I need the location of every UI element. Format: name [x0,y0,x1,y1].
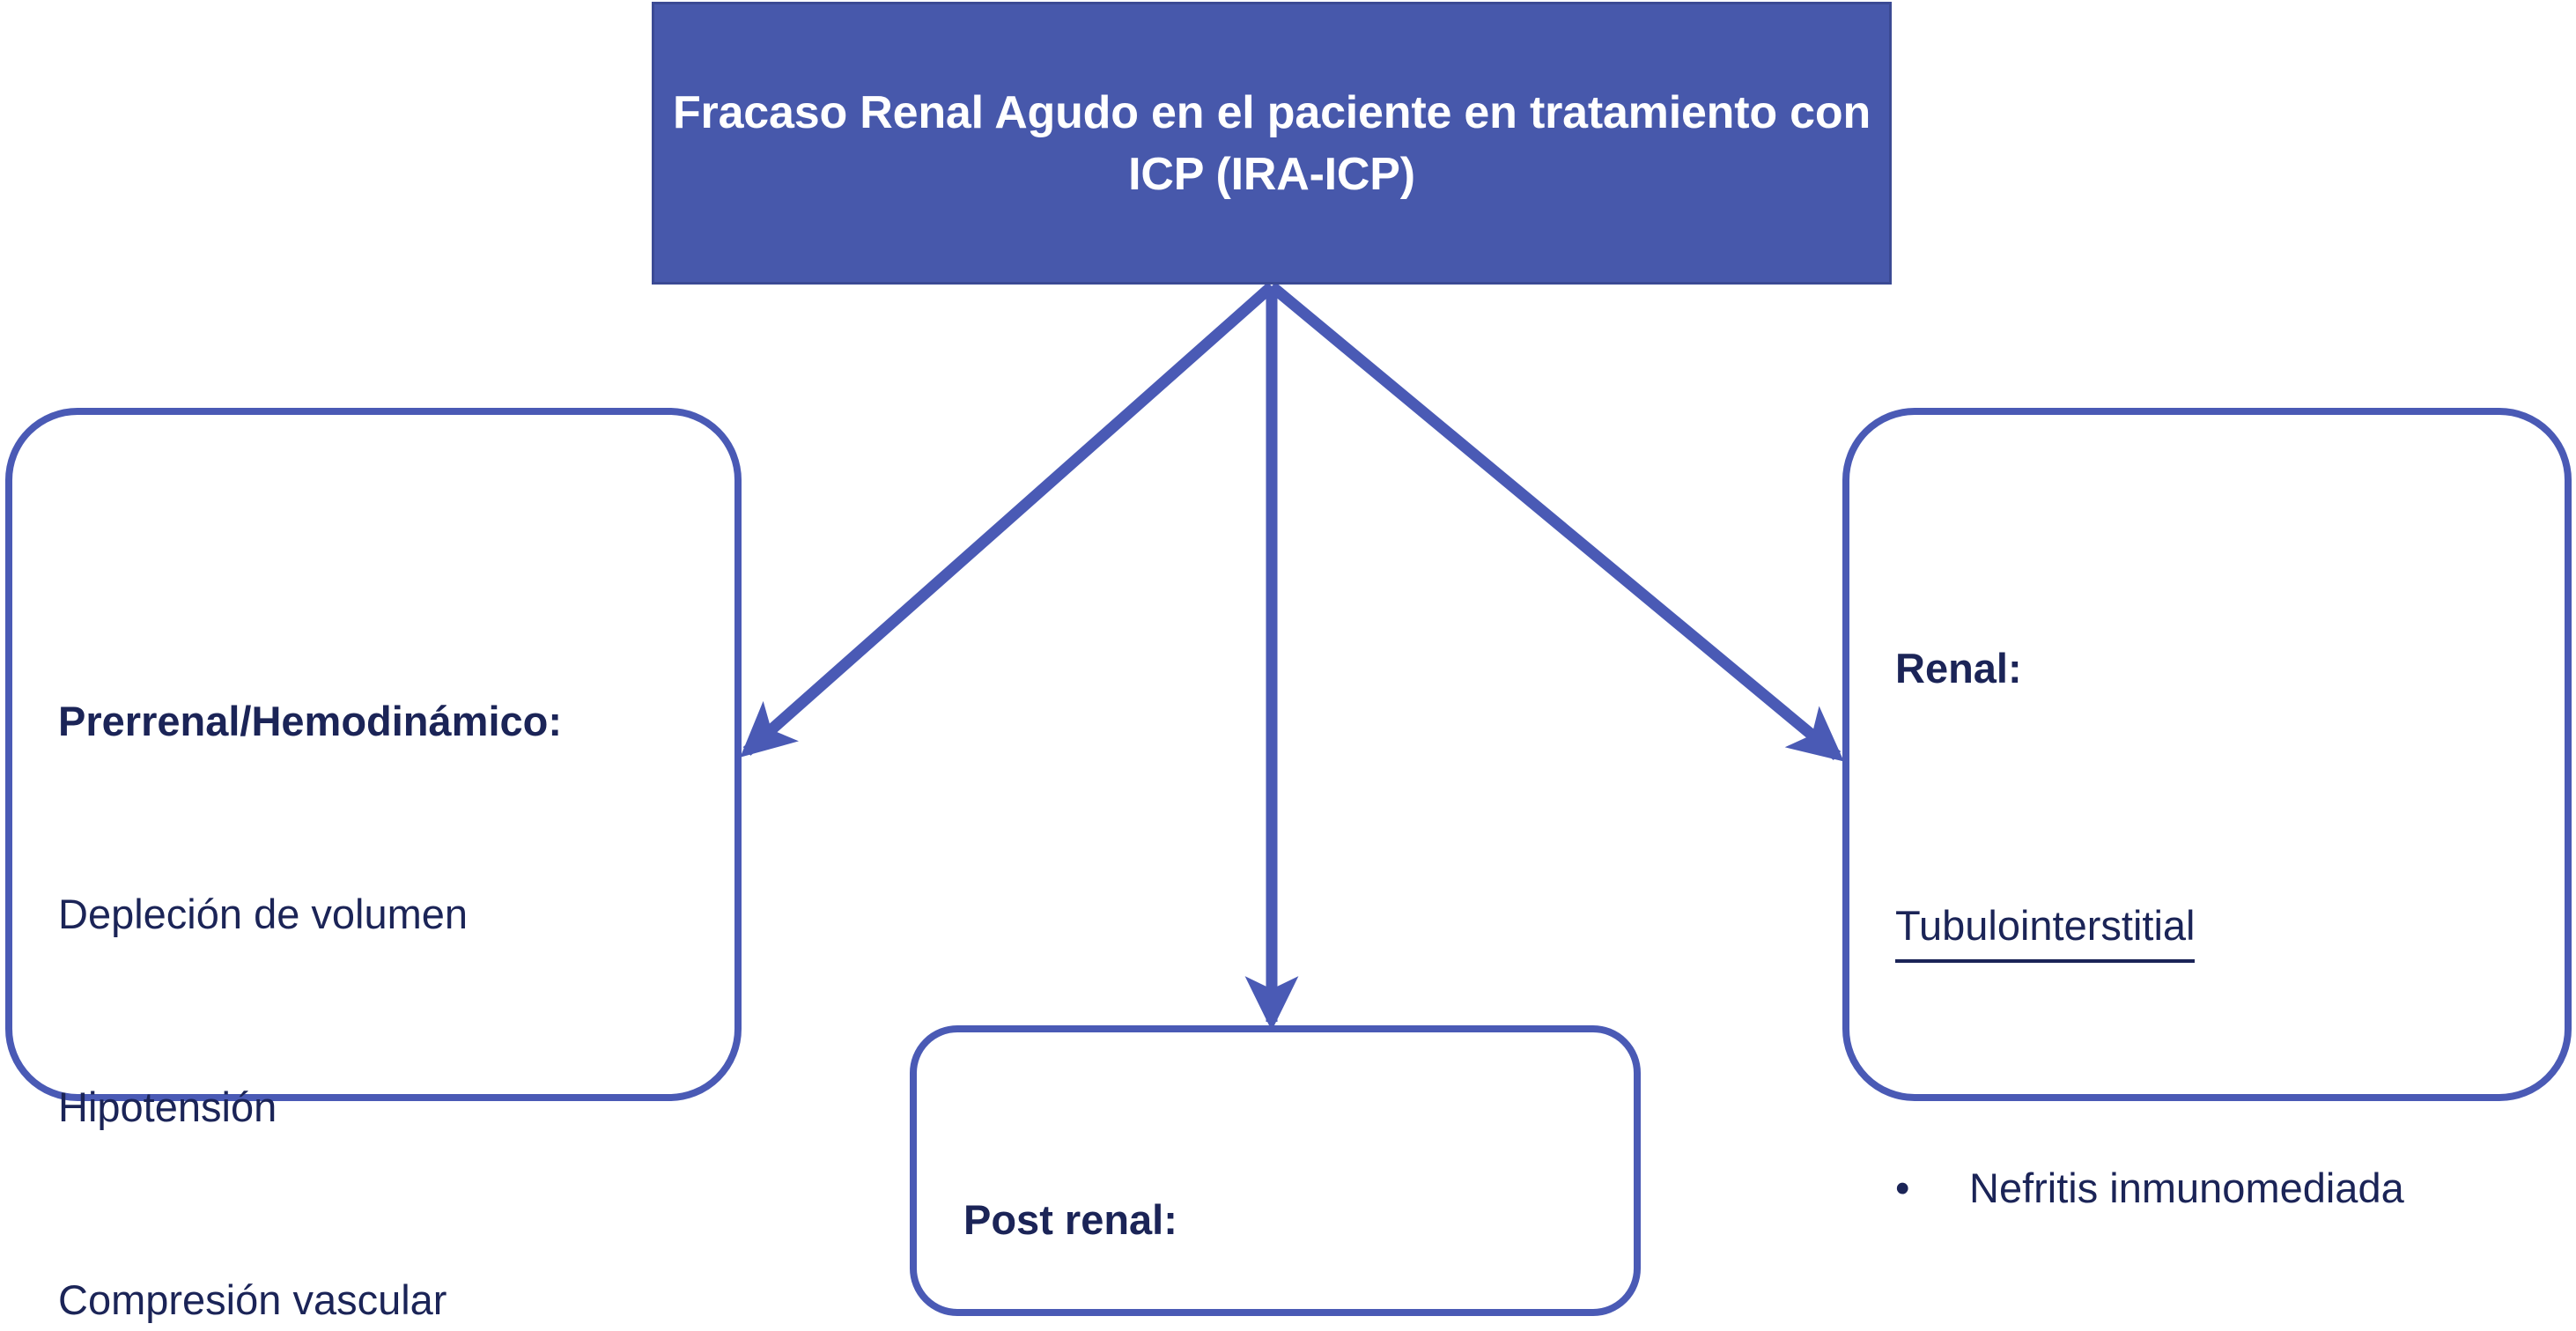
diagram-canvas: Fracaso Renal Agudo en el paciente en tr… [0,0,2576,1331]
renal-bullet-nefritis: • Nefritis inmunomediada [1895,1156,2404,1220]
postrenal-heading: Post renal: [963,1187,1437,1252]
prerrenal-heading: Prerrenal/Hemodinámico: [58,689,562,753]
renal-heading: Renal: [1895,636,2404,700]
renal-text: Renal: Tubulointerstitial • Nefritis inm… [1895,507,2404,1331]
prerrenal-line-2: Hipotensión [58,1075,562,1139]
renal-subheading-tubulointerstitial: Tubulointerstitial [1895,893,2195,963]
title-line-1: Fracaso Renal Agudo en el paciente en [673,87,1517,138]
prerrenal-text: Prerrenal/Hemodinámico: Depleción de vol… [58,560,562,1331]
renal-bullet-label: Nefritis inmunomediada [1969,1156,2404,1220]
bullet-icon: • [1895,1156,1969,1220]
title-label: Fracaso Renal Agudo en el paciente en tr… [654,82,1889,205]
arrow-to-prerrenal [747,286,1272,751]
prerrenal-line-1: Depleción de volumen [58,882,562,946]
renal-subheading-tubulointerstitial-wrap: Tubulointerstitial [1895,893,2404,963]
title-box: Fracaso Renal Agudo en el paciente en tr… [652,2,1892,285]
prerrenal-line-3: Compresión vascular [58,1268,562,1331]
title-line-3: (IRA-ICP) [1216,149,1415,200]
postrenal-text: Post renal: Uropatía obstructiva Retenci… [963,1059,1437,1331]
arrow-to-renal [1272,286,1837,756]
